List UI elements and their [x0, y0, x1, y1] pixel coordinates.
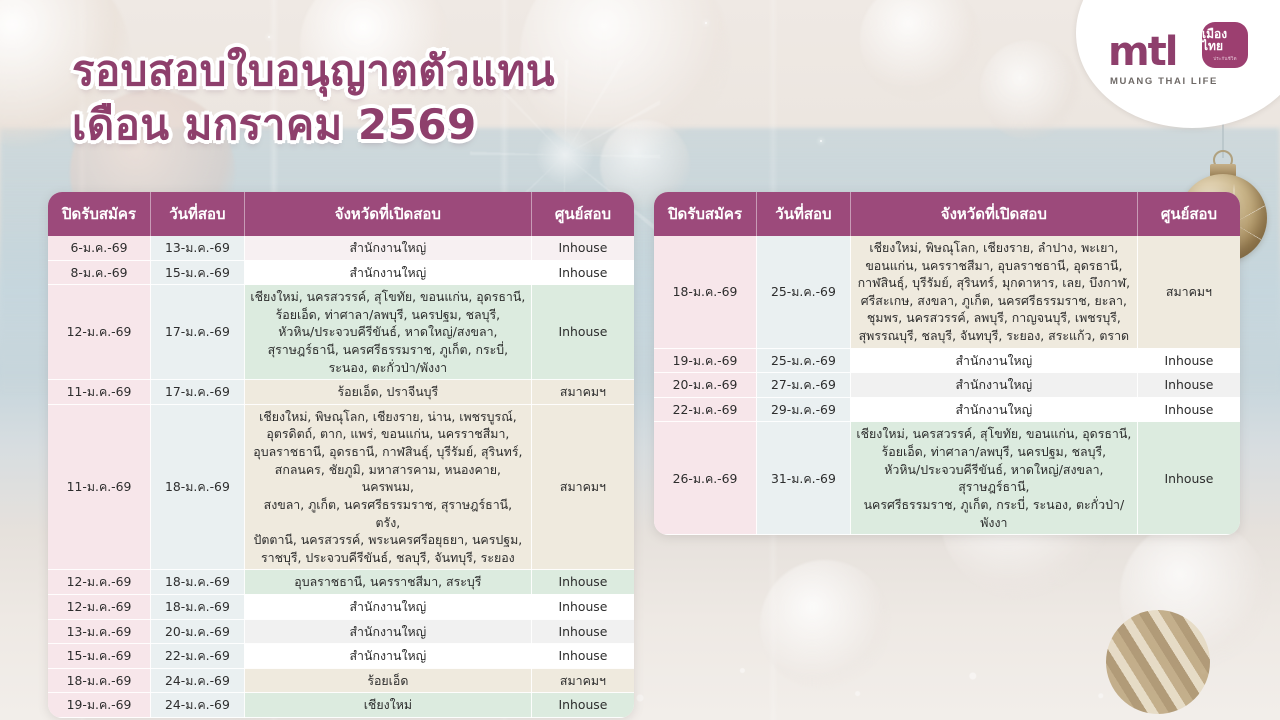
cell-close-date: 26-ม.ค.-69	[654, 422, 757, 535]
exam-schedule-table-right: ปิดรับสมัคร วันที่สอบ จังหวัดที่เปิดสอบ …	[654, 192, 1240, 535]
table-row: 12-ม.ค.-6918-ม.ค.-69อุบลราชธานี, นครราชส…	[48, 570, 634, 595]
cell-exam-center: Inhouse	[1137, 373, 1240, 398]
table-row: 18-ม.ค.-6924-ม.ค.-69ร้อยเอ็ดสมาคมฯ	[48, 668, 634, 693]
cell-close-date: 19-ม.ค.-69	[48, 693, 151, 718]
cell-province-list: สำนักงานใหญ่	[244, 644, 531, 669]
cell-exam-center: Inhouse	[531, 619, 634, 644]
cell-province-list: สำนักงานใหญ่	[850, 373, 1137, 398]
cell-close-date: 20-ม.ค.-69	[654, 373, 757, 398]
column-header-exam-date: วันที่สอบ	[757, 192, 851, 236]
cell-exam-date: 18-ม.ค.-69	[151, 570, 245, 595]
cell-exam-center: Inhouse	[531, 285, 634, 380]
cell-close-date: 13-ม.ค.-69	[48, 619, 151, 644]
cell-exam-date: 22-ม.ค.-69	[151, 644, 245, 669]
cell-exam-center: Inhouse	[1137, 397, 1240, 422]
cell-exam-date: 18-ม.ค.-69	[151, 404, 245, 569]
schedule-table: ปิดรับสมัคร วันที่สอบ จังหวัดที่เปิดสอบ …	[654, 192, 1240, 535]
cell-province-list: สำนักงานใหญ่	[244, 594, 531, 619]
cell-province-list: เชียงใหม่	[244, 693, 531, 718]
cell-exam-date: 18-ม.ค.-69	[151, 594, 245, 619]
mtl-logo: mtl MUANG THAI LIFE เมืองไทย ประกันชีวิต	[1102, 18, 1252, 98]
cell-exam-date: 27-ม.ค.-69	[757, 373, 851, 398]
cell-close-date: 12-ม.ค.-69	[48, 285, 151, 380]
column-header-close: ปิดรับสมัคร	[48, 192, 151, 236]
cell-exam-center: Inhouse	[1137, 348, 1240, 373]
exam-schedule-table-left: ปิดรับสมัคร วันที่สอบ จังหวัดที่เปิดสอบ …	[48, 192, 634, 718]
cell-province-list: เชียงใหม่, นครสวรรค์, สุโขทัย, ขอนแก่น, …	[850, 422, 1137, 535]
cell-province-list: สำนักงานใหญ่	[244, 236, 531, 260]
cell-close-date: 18-ม.ค.-69	[48, 668, 151, 693]
cell-exam-center: สมาคมฯ	[531, 380, 634, 405]
table-body: 6-ม.ค.-6913-ม.ค.-69สำนักงานใหญ่Inhouse8-…	[48, 236, 634, 718]
cell-exam-center: สมาคมฯ	[531, 404, 634, 569]
cell-exam-date: 13-ม.ค.-69	[151, 236, 245, 260]
table-header: ปิดรับสมัคร วันที่สอบ จังหวัดที่เปิดสอบ …	[48, 192, 634, 236]
cell-province-list: ร้อยเอ็ด, ปราจีนบุรี	[244, 380, 531, 405]
cell-close-date: 11-ม.ค.-69	[48, 380, 151, 405]
column-header-exam-date: วันที่สอบ	[151, 192, 245, 236]
schedule-table: ปิดรับสมัคร วันที่สอบ จังหวัดที่เปิดสอบ …	[48, 192, 634, 718]
table-row: 11-ม.ค.-6918-ม.ค.-69เชียงใหม่, พิษณุโลก,…	[48, 404, 634, 569]
cell-province-list: สำนักงานใหญ่	[850, 397, 1137, 422]
sparkle-dot	[705, 22, 707, 24]
cell-exam-center: สมาคมฯ	[531, 668, 634, 693]
sparkle-dot	[268, 36, 270, 38]
cell-exam-date: 24-ม.ค.-69	[151, 668, 245, 693]
cell-exam-center: Inhouse	[531, 644, 634, 669]
cell-exam-date: 25-ม.ค.-69	[757, 348, 851, 373]
table-row: 8-ม.ค.-6915-ม.ค.-69สำนักงานใหญ่Inhouse	[48, 260, 634, 285]
sparkle-dot	[820, 140, 822, 142]
table-row: 20-ม.ค.-6927-ม.ค.-69สำนักงานใหญ่Inhouse	[654, 373, 1240, 398]
cell-exam-center: Inhouse	[531, 693, 634, 718]
cell-exam-center: สมาคมฯ	[1137, 236, 1240, 348]
cell-exam-date: 20-ม.ค.-69	[151, 619, 245, 644]
table-row: 22-ม.ค.-6929-ม.ค.-69สำนักงานใหญ่Inhouse	[654, 397, 1240, 422]
table-row: 15-ม.ค.-6922-ม.ค.-69สำนักงานใหญ่Inhouse	[48, 644, 634, 669]
cell-exam-date: 17-ม.ค.-69	[151, 380, 245, 405]
cell-province-list: เชียงใหม่, นครสวรรค์, สุโขทัย, ขอนแก่น, …	[244, 285, 531, 380]
logo-badge-subtext: ประกันชีวิต	[1213, 55, 1237, 62]
table-row: 13-ม.ค.-6920-ม.ค.-69สำนักงานใหญ่Inhouse	[48, 619, 634, 644]
cell-exam-date: 24-ม.ค.-69	[151, 693, 245, 718]
table-header-row: ปิดรับสมัคร วันที่สอบ จังหวัดที่เปิดสอบ …	[654, 192, 1240, 236]
cell-exam-center: Inhouse	[531, 594, 634, 619]
table-header: ปิดรับสมัคร วันที่สอบ จังหวัดที่เปิดสอบ …	[654, 192, 1240, 236]
cell-close-date: 15-ม.ค.-69	[48, 644, 151, 669]
cell-province-list: เชียงใหม่, พิษณุโลก, เชียงราย, น่าน, เพช…	[244, 404, 531, 569]
table-row: 26-ม.ค.-6931-ม.ค.-69เชียงใหม่, นครสวรรค์…	[654, 422, 1240, 535]
table-row: 19-ม.ค.-6925-ม.ค.-69สำนักงานใหญ่Inhouse	[654, 348, 1240, 373]
cell-exam-date: 25-ม.ค.-69	[757, 236, 851, 348]
cell-exam-center: Inhouse	[531, 260, 634, 285]
column-header-close: ปิดรับสมัคร	[654, 192, 757, 236]
page-title-line2: เดือน มกราคม 2569	[72, 98, 555, 152]
cell-exam-date: 31-ม.ค.-69	[757, 422, 851, 535]
table-row: 11-ม.ค.-6917-ม.ค.-69ร้อยเอ็ด, ปราจีนบุรี…	[48, 380, 634, 405]
cell-province-list: เชียงใหม่, พิษณุโลก, เชียงราย, ลำปาง, พะ…	[850, 236, 1137, 348]
cell-exam-center: Inhouse	[531, 570, 634, 595]
table-row: 19-ม.ค.-6924-ม.ค.-69เชียงใหม่Inhouse	[48, 693, 634, 718]
cell-close-date: 6-ม.ค.-69	[48, 236, 151, 260]
table-header-row: ปิดรับสมัคร วันที่สอบ จังหวัดที่เปิดสอบ …	[48, 192, 634, 236]
cell-province-list: ร้อยเอ็ด	[244, 668, 531, 693]
logo-wordmark: mtl	[1108, 32, 1177, 72]
table-row: 18-ม.ค.-6925-ม.ค.-69เชียงใหม่, พิษณุโลก,…	[654, 236, 1240, 348]
table-row: 6-ม.ค.-6913-ม.ค.-69สำนักงานใหญ่Inhouse	[48, 236, 634, 260]
page-title-line1: รอบสอบใบอนุญาตตัวแทน	[72, 46, 555, 95]
cell-exam-date: 17-ม.ค.-69	[151, 285, 245, 380]
page-title: รอบสอบใบอนุญาตตัวแทน เดือน มกราคม 2569	[72, 44, 555, 152]
cell-close-date: 18-ม.ค.-69	[654, 236, 757, 348]
table-row: 12-ม.ค.-6918-ม.ค.-69สำนักงานใหญ่Inhouse	[48, 594, 634, 619]
cell-close-date: 12-ม.ค.-69	[48, 594, 151, 619]
cell-exam-date: 29-ม.ค.-69	[757, 397, 851, 422]
column-header-center: ศูนย์สอบ	[1137, 192, 1240, 236]
cell-province-list: อุบลราชธานี, นครราชสีมา, สระบุรี	[244, 570, 531, 595]
bokeh-circle	[980, 40, 1080, 140]
logo-badge: เมืองไทย ประกันชีวิต	[1202, 22, 1248, 68]
table-body: 18-ม.ค.-6925-ม.ค.-69เชียงใหม่, พิษณุโลก,…	[654, 236, 1240, 535]
cell-exam-center: Inhouse	[1137, 422, 1240, 535]
column-header-province: จังหวัดที่เปิดสอบ	[850, 192, 1137, 236]
cell-province-list: สำนักงานใหญ่	[244, 260, 531, 285]
column-header-center: ศูนย์สอบ	[531, 192, 634, 236]
cell-close-date: 19-ม.ค.-69	[654, 348, 757, 373]
logo-badge-text: เมืองไทย	[1202, 28, 1248, 52]
cell-province-list: สำนักงานใหญ่	[244, 619, 531, 644]
cell-close-date: 8-ม.ค.-69	[48, 260, 151, 285]
cell-province-list: สำนักงานใหญ่	[850, 348, 1137, 373]
cell-exam-date: 15-ม.ค.-69	[151, 260, 245, 285]
cell-close-date: 22-ม.ค.-69	[654, 397, 757, 422]
cell-exam-center: Inhouse	[531, 236, 634, 260]
ornament-bottom	[1096, 586, 1216, 720]
logo-subtitle: MUANG THAI LIFE	[1110, 76, 1218, 87]
cell-close-date: 11-ม.ค.-69	[48, 404, 151, 569]
column-header-province: จังหวัดที่เปิดสอบ	[244, 192, 531, 236]
table-row: 12-ม.ค.-6917-ม.ค.-69เชียงใหม่, นครสวรรค์…	[48, 285, 634, 380]
cell-close-date: 12-ม.ค.-69	[48, 570, 151, 595]
